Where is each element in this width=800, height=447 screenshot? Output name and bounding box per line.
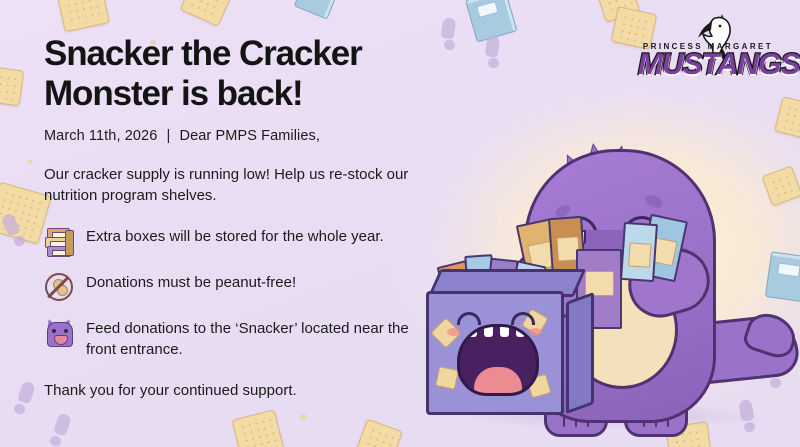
peanut-free-icon [44, 272, 74, 302]
box-cheek-left [447, 328, 460, 336]
crumb-decor [28, 160, 33, 164]
dateline-separator: | [162, 128, 176, 144]
list-item-label: Feed donations to the ‘Snacker’ located … [86, 318, 434, 360]
cracker-decor [232, 409, 285, 447]
footprint-decor [17, 381, 36, 405]
footprint-decor [49, 435, 63, 447]
headline-line-1: Snacker the Cracker [44, 34, 362, 73]
closing-paragraph: Thank you for your continued support. [44, 382, 434, 399]
page-title: Snacker the Cracker Monster is back! [44, 34, 434, 114]
cracker-decor [180, 0, 235, 27]
box-mouth [457, 324, 539, 396]
boxes-icon [44, 226, 74, 256]
footprint-decor [441, 17, 457, 40]
box-cheek-right [529, 328, 542, 336]
crumb-decor [300, 414, 307, 420]
salutation-text: Dear PMPS Families, [180, 128, 321, 144]
bullet-list: Extra boxes will be stored for the whole… [44, 226, 434, 360]
headline-line-2: Monster is back! [44, 74, 303, 113]
monster-illustration [416, 79, 800, 447]
footprint-decor [53, 413, 72, 437]
snacker-donation-box [426, 285, 576, 415]
box-side [566, 292, 594, 414]
book-decor [294, 0, 339, 17]
content-column: Snacker the Cracker Monster is back! Mar… [44, 34, 434, 399]
footprint-decor [13, 403, 27, 416]
cracker-decor [355, 419, 403, 447]
dateline: March 11th, 2026 | Dear PMPS Families, [44, 128, 434, 144]
footprint-decor [443, 39, 455, 50]
box-front [426, 291, 564, 415]
cracker-decor [596, 0, 641, 23]
date-text: March 11th, 2026 [44, 128, 157, 144]
cracker-decor [56, 0, 110, 32]
footprint-decor [12, 234, 26, 248]
cracker-decor [0, 66, 24, 107]
monster-head-icon [44, 318, 74, 348]
list-item: Extra boxes will be stored for the whole… [44, 226, 434, 256]
list-item: Donations must be peanut-free! [44, 272, 434, 302]
box-eye-left [457, 312, 481, 325]
poster-canvas: PRINCESS MARGARET MUSTANGS Snacker the C… [0, 0, 800, 447]
footprint-decor [0, 212, 20, 236]
list-item-label: Donations must be peanut-free! [86, 272, 296, 294]
logo-main-word: MUSTANGS [638, 50, 778, 80]
snack-pack [620, 222, 658, 282]
footprint-decor [485, 35, 501, 58]
list-item: Feed donations to the ‘Snacker’ located … [44, 318, 434, 360]
intro-paragraph: Our cracker supply is running low! Help … [44, 164, 434, 207]
list-item-label: Extra boxes will be stored for the whole… [86, 226, 384, 248]
footprint-decor [487, 57, 499, 68]
book-decor [465, 0, 515, 41]
